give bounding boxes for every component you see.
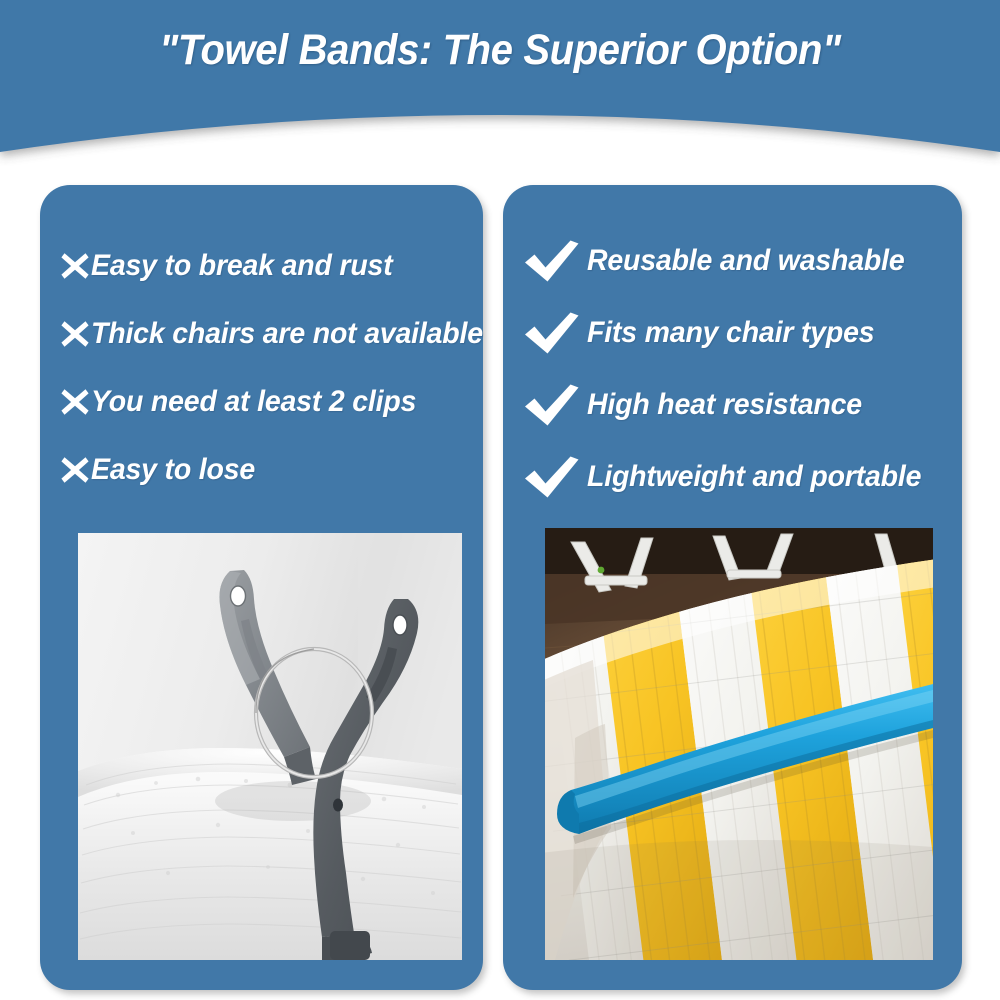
check-mark-icon — [523, 311, 581, 355]
pros-list: Reusable and washable Fits many chair ty… — [503, 185, 970, 513]
cons-list: Easy to break and rust Thick chairs are … — [40, 185, 491, 504]
list-item-label: Easy to lose — [91, 454, 255, 486]
poster-canvas: "Towel Bands: The Superior Option" Easy … — [0, 0, 1000, 1000]
towel-clip-illustration — [78, 533, 462, 960]
x-mark-icon — [60, 319, 90, 349]
list-item: Reusable and washable — [511, 225, 970, 297]
check-mark-icon — [523, 455, 581, 499]
list-item-label: Reusable and washable — [587, 245, 905, 277]
list-item: Easy to lose — [48, 436, 491, 504]
list-item-label: Fits many chair types — [587, 317, 874, 349]
list-item-label: You need at least 2 clips — [91, 386, 416, 418]
list-item-label: Lightweight and portable — [587, 461, 921, 493]
list-item: Thick chairs are not available — [48, 300, 491, 368]
x-mark-icon — [60, 455, 90, 485]
list-item-label: Easy to break and rust — [91, 250, 393, 282]
list-item-label: Thick chairs are not available — [91, 318, 483, 350]
header-banner: "Towel Bands: The Superior Option" — [0, 0, 1000, 200]
towel-band-illustration — [545, 528, 933, 960]
list-item: Easy to break and rust — [48, 232, 491, 300]
list-item-label: High heat resistance — [587, 389, 862, 421]
check-mark-icon — [523, 383, 581, 427]
check-mark-icon — [523, 239, 581, 283]
page-title: "Towel Bands: The Superior Option" — [35, 22, 965, 78]
list-item: High heat resistance — [511, 369, 970, 441]
x-mark-icon — [60, 251, 90, 281]
towel-band-photo — [545, 528, 933, 960]
list-item: You need at least 2 clips — [48, 368, 491, 436]
towel-clip-photo — [78, 533, 462, 960]
x-mark-icon — [60, 387, 90, 417]
list-item: Fits many chair types — [511, 297, 970, 369]
list-item: Lightweight and portable — [511, 441, 970, 513]
